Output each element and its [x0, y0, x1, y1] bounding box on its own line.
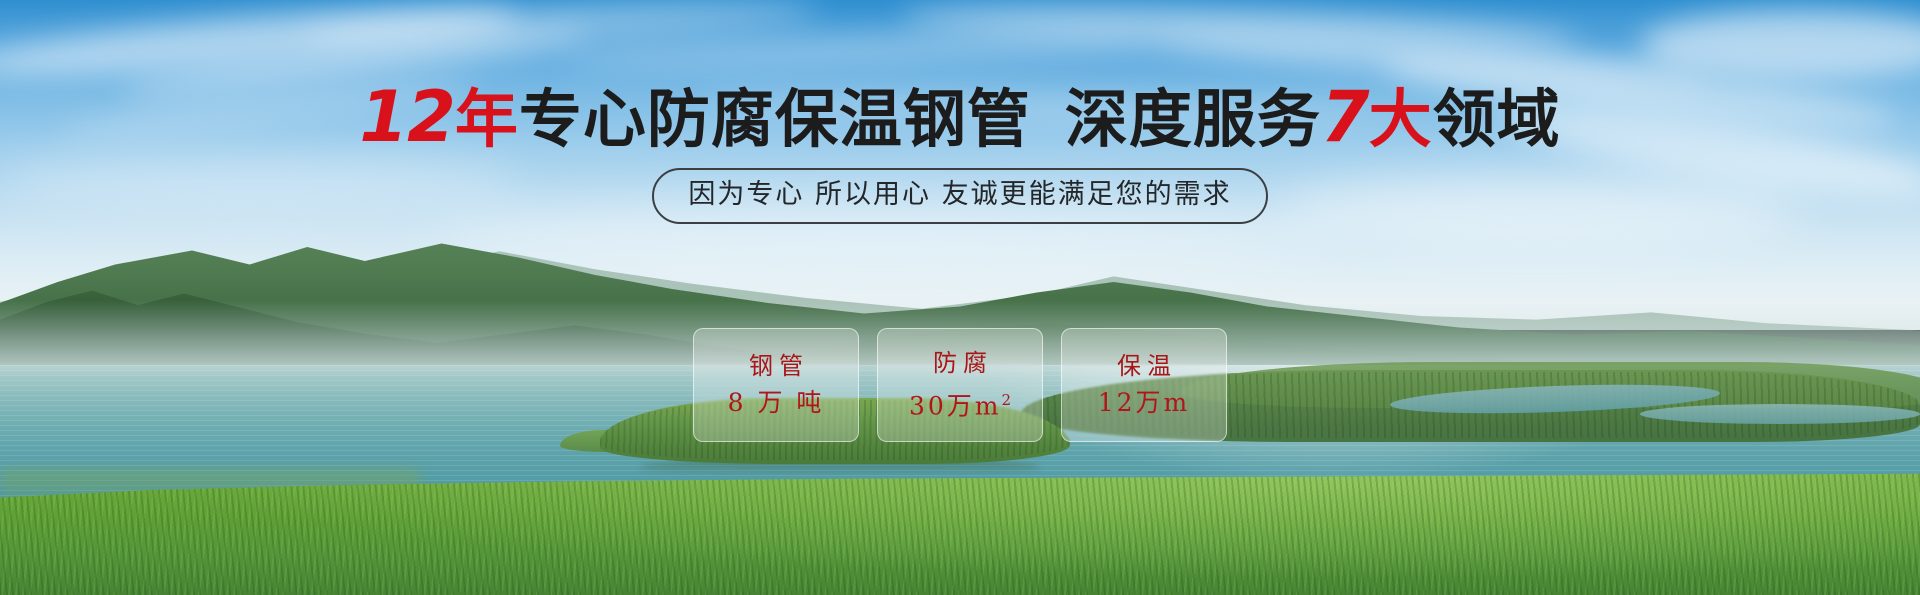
stat-card-label: 保温: [1111, 353, 1177, 379]
stat-card-insulation[interactable]: 保温 12万m: [1061, 328, 1227, 442]
stat-card-label: 防腐: [927, 350, 993, 376]
stat-card-anticorrosion[interactable]: 防腐 30万m2: [877, 328, 1043, 442]
headline-years-number: 12: [359, 76, 454, 158]
headline-highlight-number: 7: [1321, 76, 1369, 158]
text-overlay: 12年专心防腐保温钢管深度服务7大领域 因为专心 所以用心 友诚更能满足您的需求…: [0, 0, 1920, 595]
subtitle-container: 因为专心 所以用心 友诚更能满足您的需求: [0, 168, 1920, 224]
stat-card-value: 8 万 吨: [728, 389, 825, 417]
stat-card-value-text: 12万m: [1098, 388, 1191, 417]
stat-card-value: 30万m2: [909, 386, 1011, 420]
headline-segment-3: 领域: [1433, 83, 1561, 156]
hero-banner: 12年专心防腐保温钢管深度服务7大领域 因为专心 所以用心 友诚更能满足您的需求…: [0, 0, 1920, 595]
headline-highlight-unit: 大: [1369, 83, 1433, 156]
headline: 12年专心防腐保温钢管深度服务7大领域: [0, 82, 1920, 155]
headline-segment-2: 深度服务: [1065, 83, 1321, 156]
stat-card-label: 钢管: [743, 353, 809, 379]
stat-card-value-text: 30万m: [909, 391, 1002, 420]
headline-years-unit: 年: [455, 83, 519, 156]
headline-segment-1: 专心防腐保温钢管: [519, 83, 1031, 156]
stat-card-list: 钢管 8 万 吨 防腐 30万m2 保温 12万m: [0, 328, 1920, 442]
subtitle-pill: 因为专心 所以用心 友诚更能满足您的需求: [652, 168, 1267, 224]
stat-card-value-text: 8 万 吨: [728, 388, 825, 417]
stat-card-steel-pipe[interactable]: 钢管 8 万 吨: [693, 328, 859, 442]
stat-card-value-superscript: 2: [1001, 391, 1011, 409]
stat-card-value: 12万m: [1098, 389, 1191, 417]
